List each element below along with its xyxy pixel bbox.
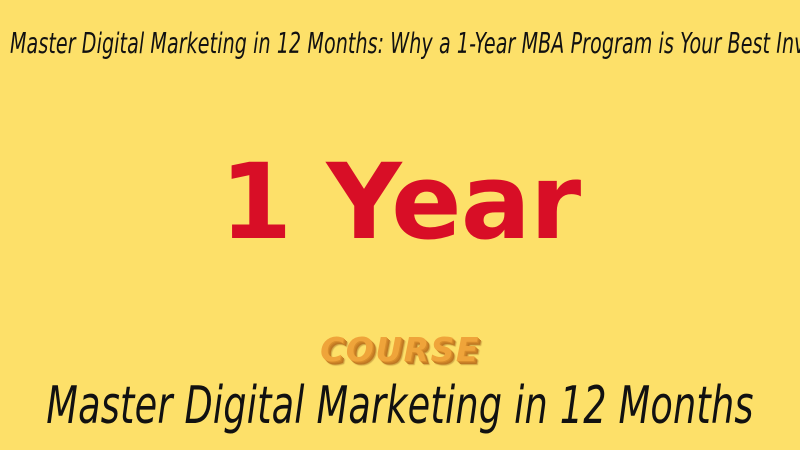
top-title: Master Digital Marketing in 12 Months: W… bbox=[10, 28, 784, 63]
slide-canvas: Master Digital Marketing in 12 Months: W… bbox=[0, 0, 800, 450]
bottom-title: Master Digital Marketing in 12 Months bbox=[12, 378, 788, 434]
hero-duration-text: 1 Year bbox=[0, 150, 800, 254]
course-kicker-label: COURSE bbox=[0, 333, 800, 366]
